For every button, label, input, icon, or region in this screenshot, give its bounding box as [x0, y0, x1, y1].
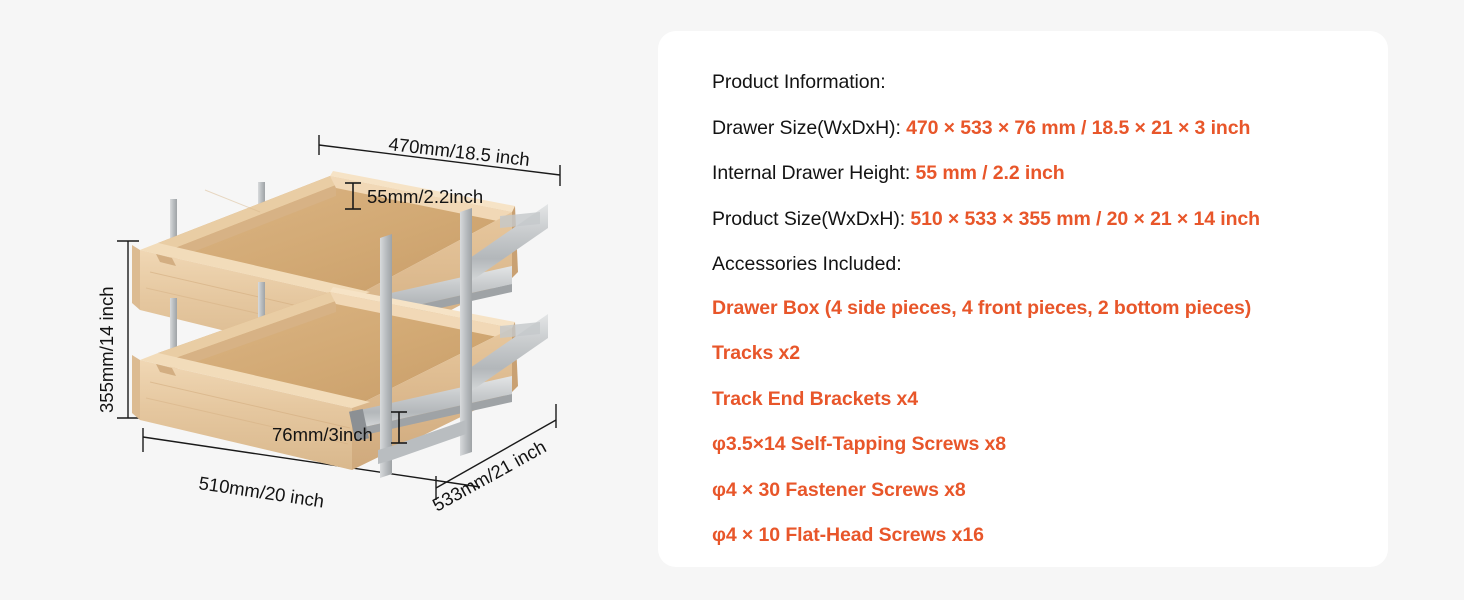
spec-label-drawer-size: Drawer Size(WxDxH): — [712, 117, 901, 139]
spec-label-internal-height: Internal Drawer Height: — [712, 162, 910, 184]
dimension-label-total-height: 355mm/14 inch — [96, 287, 117, 413]
accessories-heading: Accessories Included: — [712, 255, 1358, 275]
spec-label-product-size: Product Size(WxDxH): — [712, 208, 905, 230]
spec-row-drawer-size: Drawer Size(WxDxH): 470 × 533 × 76 mm / … — [712, 119, 1358, 139]
accessory-item-flat-head-screws: φ4 × 10 Flat-Head Screws x16 — [712, 526, 1358, 546]
product-spec-page: 470mm/18.5 inch 55mm/2.2inch 355mm/14 in… — [0, 0, 1464, 600]
dimension-label-inner-height: 55mm/2.2inch — [367, 186, 483, 207]
spec-row-product-size: Product Size(WxDxH): 510 × 533 × 355 mm … — [712, 210, 1358, 230]
spec-value-drawer-size: 470 × 533 × 76 mm / 18.5 × 21 × 3 inch — [906, 117, 1250, 139]
product-information-card: Product Information: Drawer Size(WxDxH):… — [658, 31, 1388, 567]
spec-row-internal-height: Internal Drawer Height: 55 mm / 2.2 inch — [712, 164, 1358, 184]
product-information-heading: Product Information: — [712, 73, 1358, 93]
accessory-item-drawer-box: Drawer Box (4 side pieces, 4 front piece… — [712, 299, 1358, 319]
product-information-heading-text: Product Information: — [712, 71, 886, 93]
product-illustration: 470mm/18.5 inch 55mm/2.2inch 355mm/14 in… — [0, 0, 650, 600]
accessory-item-self-tapping-screws: φ3.5×14 Self-Tapping Screws x8 — [712, 435, 1358, 455]
accessory-item-tracks: Tracks x2 — [712, 344, 1358, 364]
dimension-label-width-top: 470mm/18.5 inch — [388, 133, 531, 170]
accessory-item-fastener-screws: φ4 × 30 Fastener Screws x8 — [712, 481, 1358, 501]
dimension-label-depth: 533mm/21 inch — [429, 436, 550, 516]
spec-value-internal-height: 55 mm / 2.2 inch — [916, 162, 1065, 184]
dimension-label-product-width: 510mm/20 inch — [197, 472, 325, 511]
spec-value-product-size: 510 × 533 × 355 mm / 20 × 21 × 14 inch — [910, 208, 1260, 230]
accessory-item-track-end-brackets: Track End Brackets x4 — [712, 390, 1358, 410]
dimension-label-drawer-height: 76mm/3inch — [272, 424, 373, 445]
